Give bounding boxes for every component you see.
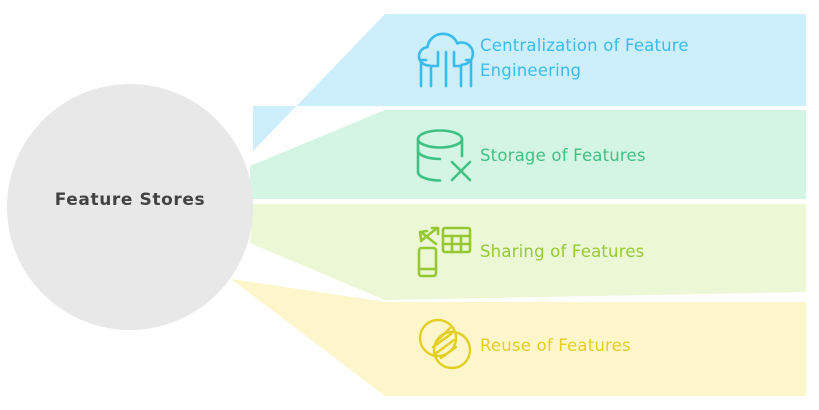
band-icon-slot-2: [418, 228, 464, 274]
band-label-sharing-of-features: Sharing of Features: [480, 239, 644, 264]
band-row-centralization-of-feature-engineering[interactable]: Centralization of Feature Engineering: [418, 33, 758, 83]
band-label-reuse-of-features: Reuse of Features: [480, 333, 631, 358]
band-icon-slot-0: [418, 35, 464, 81]
band-label-centralization-of-feature-engineering: Centralization of Feature Engineering: [480, 33, 689, 83]
band-label-storage-of-features: Storage of Features: [480, 143, 646, 168]
band-row-reuse-of-features[interactable]: Reuse of Features: [418, 322, 758, 368]
band-row-storage-of-features[interactable]: Storage of Features: [418, 132, 758, 178]
hub-circle[interactable]: [7, 84, 253, 330]
feature-stores-diagram: Feature Stores Centralization of Feature…: [0, 0, 819, 410]
band-icon-slot-3: [418, 322, 464, 368]
band-row-sharing-of-features[interactable]: Sharing of Features: [418, 228, 758, 274]
band-icon-slot-1: [418, 132, 464, 178]
